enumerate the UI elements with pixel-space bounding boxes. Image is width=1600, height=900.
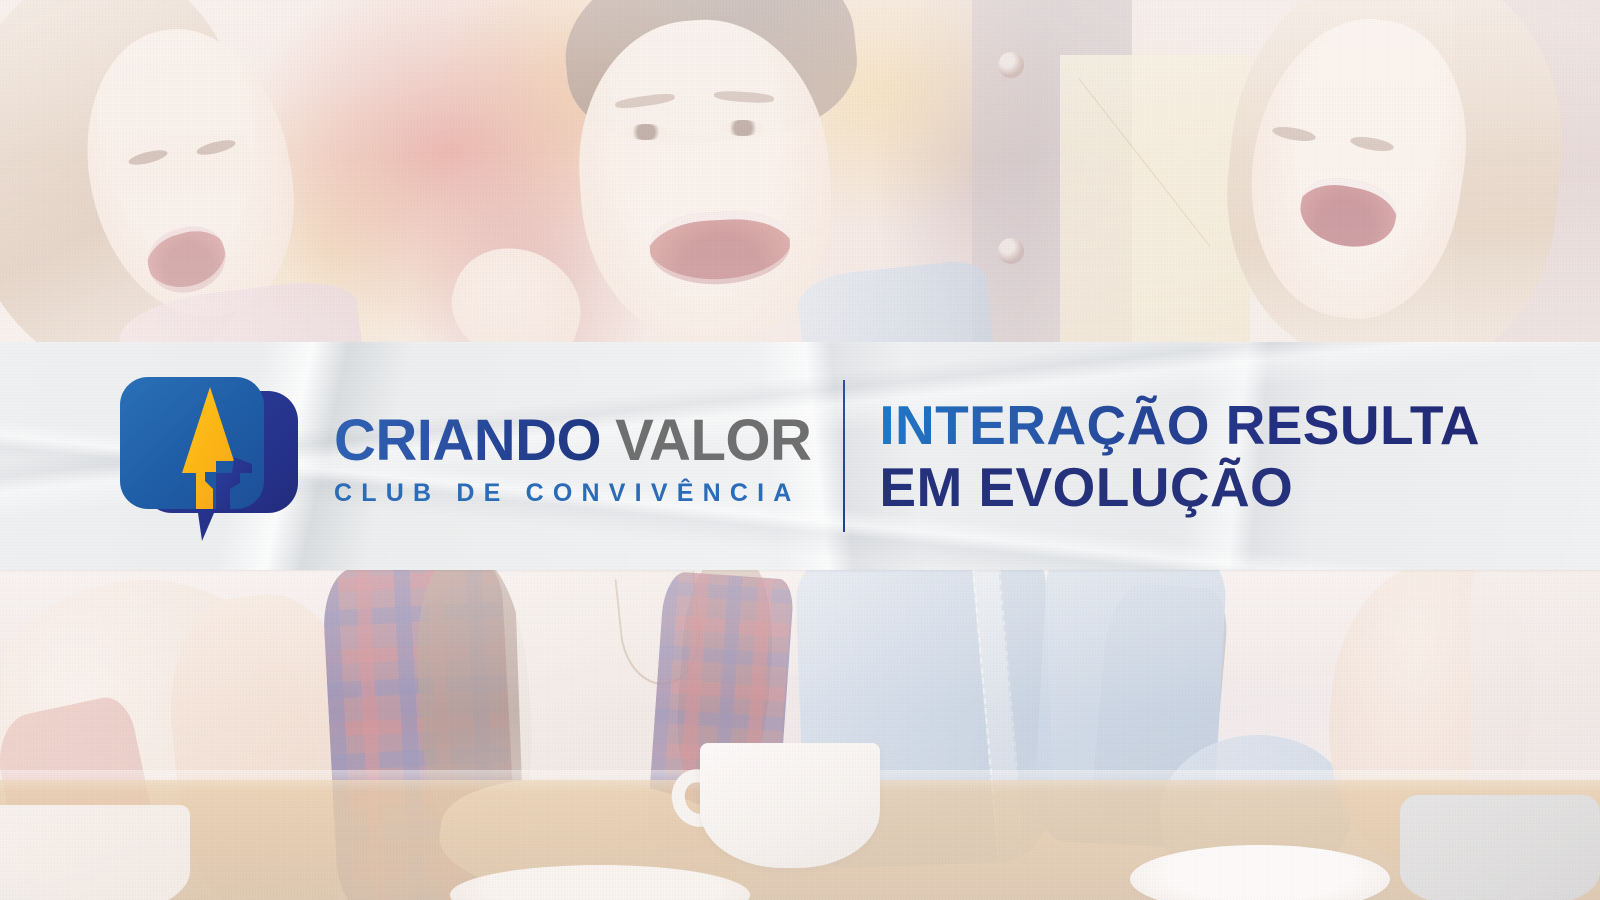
photo-bottom [0,555,1600,900]
photo-bottom-grain [0,555,1600,900]
brand-banner: CRIANDOVALOR CLUB DE CONVIVÊNCIA INTERAÇ… [0,342,1600,570]
photo-top-grain [0,0,1600,345]
wordmark-tagline: CLUB DE CONVIVÊNCIA [334,481,811,506]
wordmark: CRIANDOVALOR CLUB DE CONVIVÊNCIA [334,406,811,506]
wordmark-criando: CRIANDO [334,408,601,473]
headline-line-1: INTERAÇÃO RESULTA [879,394,1480,456]
poster-root: CRIANDOVALOR CLUB DE CONVIVÊNCIA INTERAÇ… [0,0,1600,900]
brand-lockup[interactable]: CRIANDOVALOR CLUB DE CONVIVÊNCIA [112,369,811,544]
wordmark-valor: VALOR [615,408,811,473]
headline: INTERAÇÃO RESULTA EM EVOLUÇÃO [879,394,1480,518]
headline-line-2: EM EVOLUÇÃO [879,456,1480,518]
photo-top [0,0,1600,345]
wordmark-name: CRIANDOVALOR [334,412,811,470]
vertical-divider-icon [843,380,845,532]
speech-bubbles-faces-logo-icon [112,369,312,544]
